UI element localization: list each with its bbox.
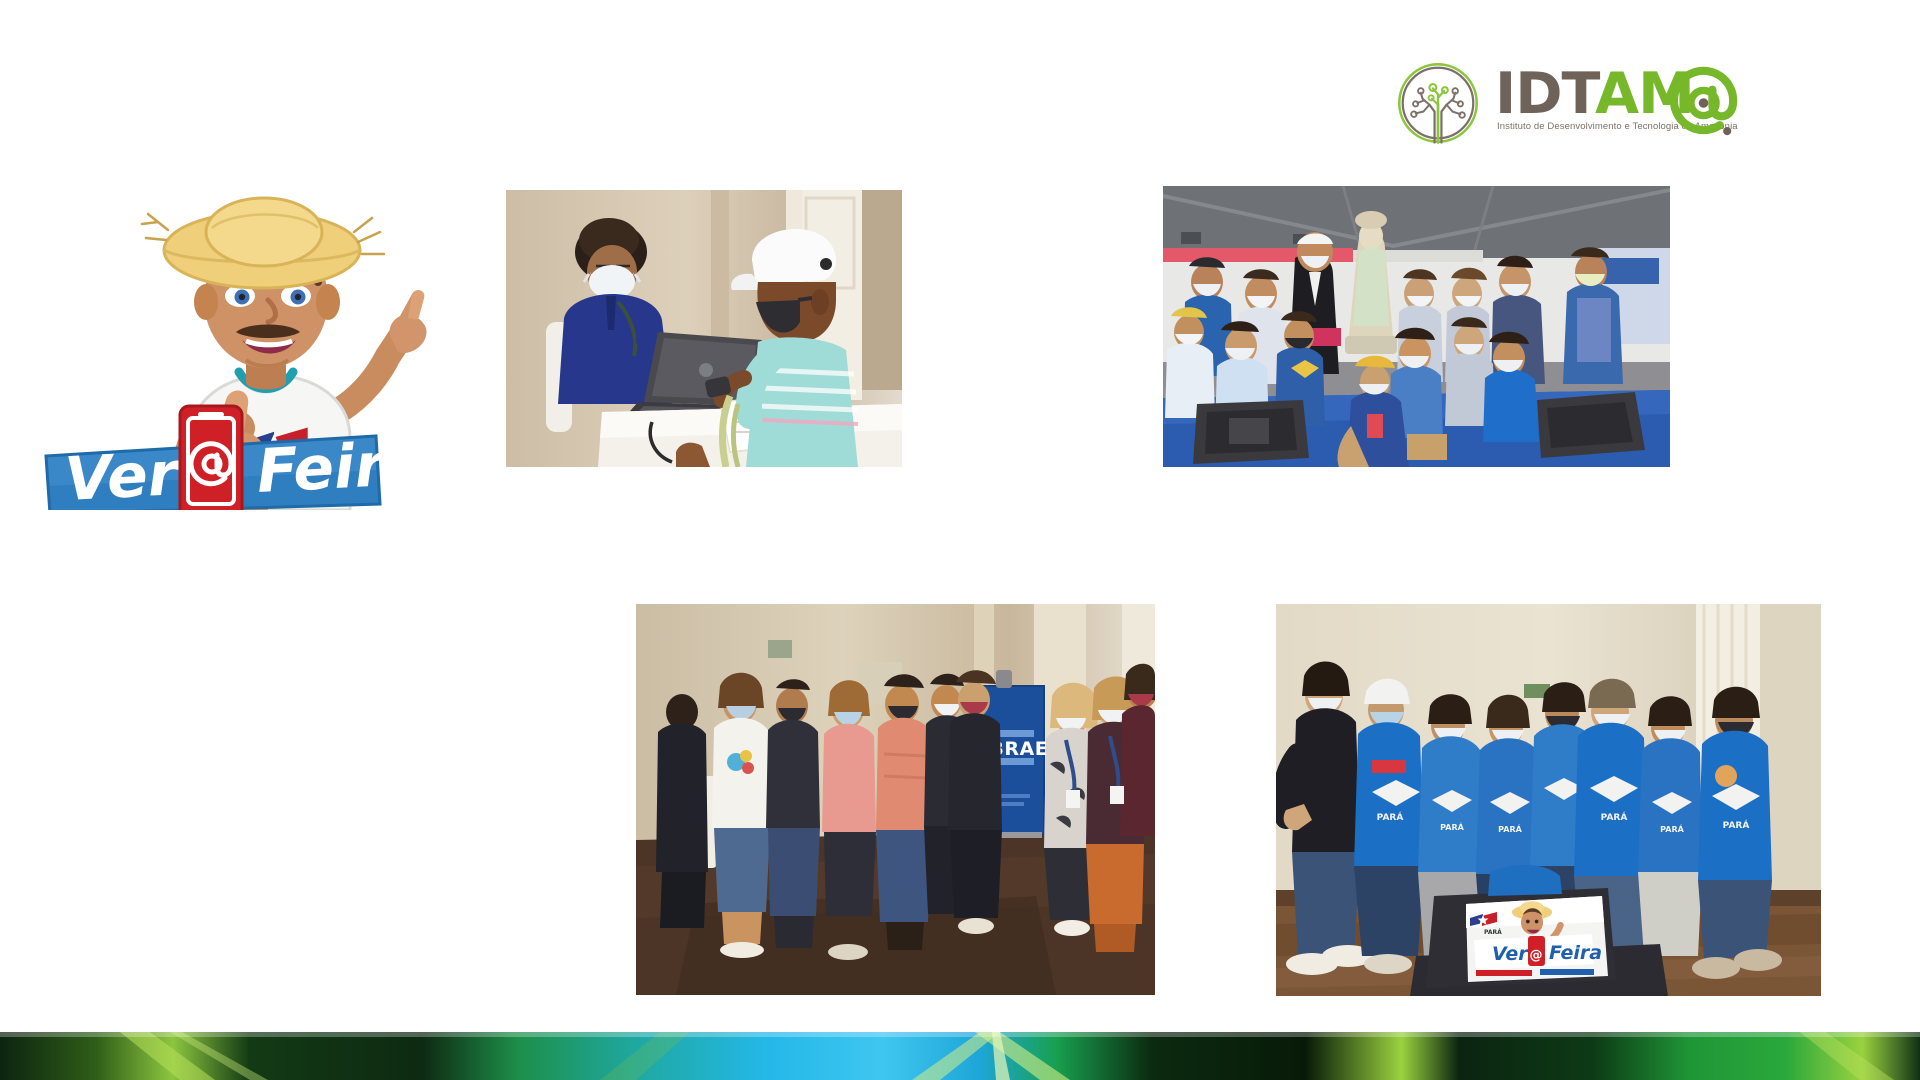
svg-text:PARÁ: PARÁ <box>1498 823 1522 834</box>
svg-text:PARÁ: PARÁ <box>1723 819 1750 831</box>
slide-root: IDTAM Instituto de Desenvolvimento e Tec… <box>0 0 1920 1080</box>
svg-text:Feira: Feira <box>1549 942 1602 964</box>
svg-text:PARÁ: PARÁ <box>1484 929 1502 936</box>
photo-registration-laptop: Atendente de máscara registrando feirant… <box>506 190 902 467</box>
svg-text:PARÁ: PARÁ <box>1660 823 1684 834</box>
svg-text:PARÁ: PARÁ <box>1377 811 1404 823</box>
verfeira-logo: Ver Feira <box>40 170 440 510</box>
verfeira-wordmark-banner: Ver Feira <box>40 170 440 510</box>
photo-team-delivery-box: PARÁ PARÁ PARÁ <box>1276 604 1821 996</box>
svg-text:PARÁ: PARÁ <box>1601 811 1628 823</box>
footer-decorative-strip <box>0 1032 1920 1080</box>
photo-group-tent: Grupo de participantes de máscara em ten… <box>1163 186 1670 467</box>
svg-text:Feira: Feira <box>255 428 426 507</box>
idtam-at-icon <box>1668 66 1742 140</box>
idtam-wordmark-block: IDTAM Instituto de Desenvolvimento e Tec… <box>1495 60 1738 132</box>
svg-text:PARÁ: PARÁ <box>1440 821 1464 832</box>
svg-text:@: @ <box>1530 948 1543 963</box>
svg-text:Ver: Ver <box>1492 943 1529 965</box>
idtam-tree-circuit-icon <box>1395 60 1481 146</box>
idtam-word-idt: IDT <box>1495 61 1595 127</box>
svg-text:Ver: Ver <box>63 439 182 510</box>
idtam-logo: IDTAM Instituto de Desenvolvimento e Tec… <box>1395 60 1865 155</box>
verfeira-phone-at-icon <box>180 406 242 510</box>
photo-group-sebrae-banner: SEBRAE <box>636 604 1155 995</box>
